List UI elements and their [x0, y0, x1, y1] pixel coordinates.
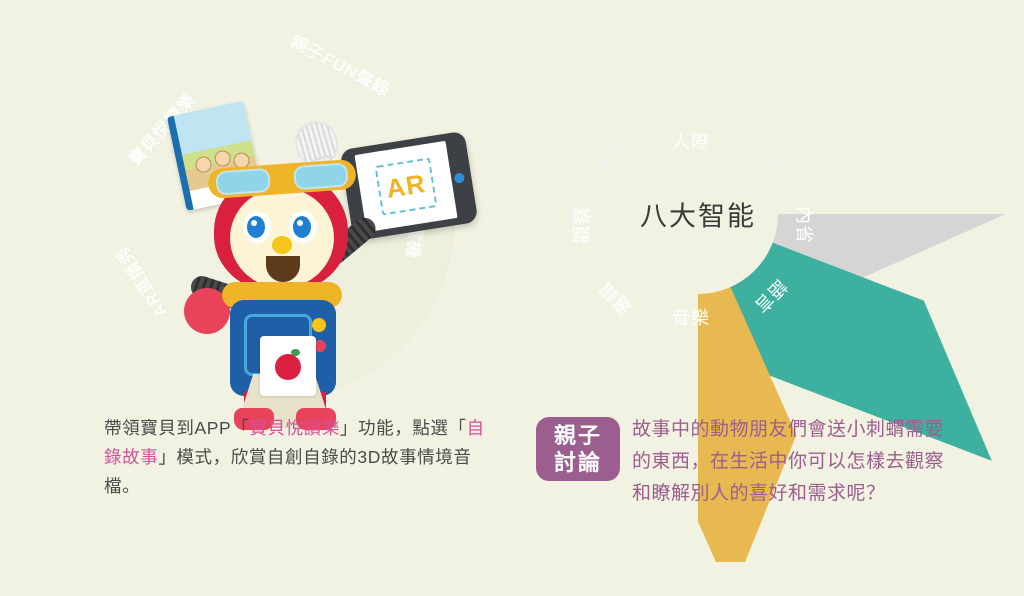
- apple-tshirt: [260, 336, 316, 396]
- caption-text-3: 「: [449, 418, 467, 438]
- caption-text-2: 」功能，點選: [340, 418, 449, 438]
- discussion-text: 故事中的動物朋友們會送小刺蝟需要的東西，在生活中你可以怎樣去觀察和瞭解別人的喜好…: [632, 414, 954, 510]
- caption-text-4: 」模式，欣賞自創自錄的3D故事情: [158, 447, 435, 467]
- donut-label-neixing: 內省: [792, 206, 818, 244]
- robot-mascot: [178, 160, 388, 420]
- donut-label-guancha: 觀察: [568, 206, 594, 244]
- donut-label-yinyue: 音樂: [672, 304, 710, 330]
- donut-label-renji: 人際: [672, 128, 710, 154]
- page-root: 寶貝悅讀樂 親子FUN聲錄 天馬發電機 AR直播秀 AR: [0, 0, 1024, 563]
- caption-text-1: 帶領寶貝到APP「: [104, 418, 249, 438]
- robot-nose: [272, 236, 292, 254]
- badge-line-2: 討論: [554, 449, 602, 476]
- apple-graphic: [275, 354, 301, 380]
- robot-goggles: [207, 159, 357, 199]
- discussion-badge: 親子 討論: [536, 417, 620, 481]
- donut-center-label: 八大智能: [640, 195, 756, 234]
- robot-button-yellow: [312, 318, 326, 332]
- caption-highlight-1: 寶貝悅讀樂: [249, 418, 340, 438]
- intelligence-donut-chart: 八大智能 人際 空間 內省 語言 音樂 邏輯 觀察 動覺: [524, 40, 896, 392]
- badge-line-1: 親子: [554, 422, 602, 449]
- apple-leaf: [291, 349, 300, 356]
- robot-eye-left: [240, 208, 274, 246]
- left-caption: 帶領寶貝到APP「寶貝悅讀樂」功能，點選「自錄故事」模式，欣賞自創自錄的3D故事…: [104, 414, 486, 501]
